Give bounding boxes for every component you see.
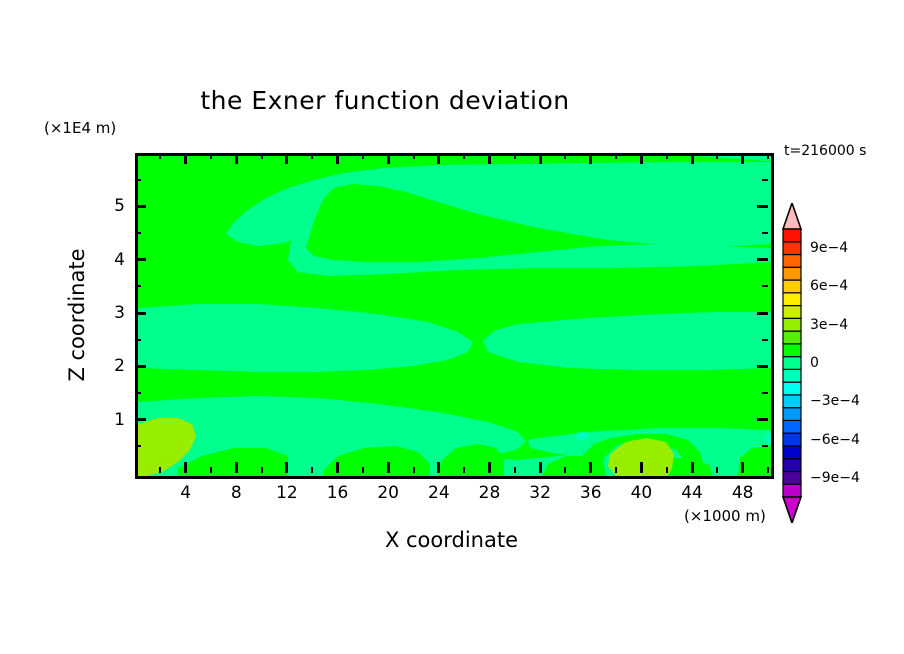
x-tick-minor-top bbox=[767, 153, 769, 159]
x-tick-major-top bbox=[589, 153, 592, 164]
x-tick-minor bbox=[311, 467, 313, 473]
x-tick-major bbox=[488, 462, 491, 473]
y-tick-minor-right bbox=[762, 232, 768, 234]
y-tick-minor bbox=[135, 445, 141, 447]
colorbar-tick-label: 6e−4 bbox=[810, 278, 848, 294]
x-tick-minor-top bbox=[413, 153, 415, 159]
x-tick-label: 40 bbox=[631, 483, 653, 503]
x-tick-minor bbox=[666, 467, 668, 473]
colorbar-band bbox=[783, 369, 801, 382]
y-tick-major-right bbox=[757, 312, 768, 315]
colorbar-band bbox=[783, 242, 801, 255]
x-tick-minor-top bbox=[615, 153, 617, 159]
x-tick-minor bbox=[514, 467, 516, 473]
x-tick-minor-top bbox=[362, 153, 364, 159]
y-tick-major bbox=[135, 418, 146, 421]
x-unit-label: (×1000 m) bbox=[684, 507, 766, 525]
y-tick-major-right bbox=[757, 258, 768, 261]
y-tick-minor-right bbox=[762, 445, 768, 447]
colorbar-band bbox=[783, 306, 801, 319]
x-tick-major bbox=[437, 462, 440, 473]
colorbar-tick-label: −3e−4 bbox=[810, 393, 860, 409]
x-tick-label: 32 bbox=[529, 483, 551, 503]
x-tick-major bbox=[741, 462, 744, 473]
y-tick-major bbox=[135, 258, 146, 261]
colorbar-tick-label: 3e−4 bbox=[810, 317, 848, 333]
x-tick-minor bbox=[413, 467, 415, 473]
x-tick-minor bbox=[210, 467, 212, 473]
colorbar-gradient bbox=[782, 203, 802, 523]
x-tick-minor-top bbox=[261, 153, 263, 159]
plot-area[interactable] bbox=[135, 153, 774, 479]
colorbar-band bbox=[783, 331, 801, 344]
x-tick-major bbox=[285, 462, 288, 473]
x-tick-label: 16 bbox=[327, 483, 349, 503]
colorbar-tick-label: −9e−4 bbox=[810, 470, 860, 486]
chart-title: the Exner function deviation bbox=[0, 86, 770, 115]
x-axis-title: X coordinate bbox=[135, 528, 768, 552]
x-tick-minor bbox=[716, 467, 718, 473]
x-tick-minor-top bbox=[210, 153, 212, 159]
x-tick-minor bbox=[463, 467, 465, 473]
time-annotation: t=216000 s bbox=[784, 143, 866, 159]
y-tick-label: 2 bbox=[89, 356, 125, 376]
colorbar-band bbox=[783, 318, 801, 331]
x-tick-major-top bbox=[336, 153, 339, 164]
y-axis-title: Z coordinate bbox=[65, 215, 89, 415]
x-tick-major bbox=[336, 462, 339, 473]
x-tick-minor bbox=[615, 467, 617, 473]
x-tick-minor bbox=[159, 467, 161, 473]
x-tick-major bbox=[589, 462, 592, 473]
x-tick-minor-top bbox=[463, 153, 465, 159]
y-tick-minor bbox=[135, 339, 141, 341]
x-tick-minor-top bbox=[514, 153, 516, 159]
contour-field bbox=[138, 156, 771, 476]
x-tick-major bbox=[387, 462, 390, 473]
y-tick-minor bbox=[135, 285, 141, 287]
y-tick-major-right bbox=[757, 418, 768, 421]
colorbar-band bbox=[783, 420, 801, 433]
x-tick-label: 36 bbox=[580, 483, 602, 503]
colorbar-band bbox=[783, 433, 801, 446]
y-tick-minor-right bbox=[762, 285, 768, 287]
y-tick-label: 5 bbox=[89, 196, 125, 216]
x-tick-major bbox=[184, 462, 187, 473]
x-tick-major bbox=[691, 462, 694, 473]
colorbar-band bbox=[783, 471, 801, 484]
x-tick-label: 44 bbox=[681, 483, 703, 503]
colorbar-tick-label: −6e−4 bbox=[810, 432, 860, 448]
x-tick-major-top bbox=[741, 153, 744, 164]
colorbar-under-cap bbox=[783, 497, 801, 523]
x-tick-minor bbox=[362, 467, 364, 473]
x-tick-major-top bbox=[235, 153, 238, 164]
x-tick-major-top bbox=[539, 153, 542, 164]
x-tick-label: 28 bbox=[479, 483, 501, 503]
y-tick-minor-right bbox=[762, 392, 768, 394]
colorbar-tick-label: 9e−4 bbox=[810, 240, 848, 256]
y-tick-minor-right bbox=[762, 339, 768, 341]
x-tick-major bbox=[539, 462, 542, 473]
y-tick-major bbox=[135, 365, 146, 368]
x-tick-minor-top bbox=[716, 153, 718, 159]
y-tick-major-right bbox=[757, 205, 768, 208]
x-tick-major-top bbox=[285, 153, 288, 164]
colorbar-band bbox=[783, 395, 801, 408]
colorbar-band bbox=[783, 293, 801, 306]
y-tick-label: 1 bbox=[89, 410, 125, 430]
x-tick-major bbox=[235, 462, 238, 473]
figure-canvas: the Exner function deviation (×1E4 m) t=… bbox=[0, 0, 904, 654]
y-tick-minor bbox=[135, 392, 141, 394]
y-tick-major bbox=[135, 205, 146, 208]
colorbar-band bbox=[783, 267, 801, 280]
colorbar-over-cap bbox=[783, 203, 801, 229]
y-tick-minor bbox=[135, 179, 141, 181]
x-tick-major-top bbox=[691, 153, 694, 164]
x-tick-major-top bbox=[488, 153, 491, 164]
x-tick-major-top bbox=[184, 153, 187, 164]
colorbar-band bbox=[783, 446, 801, 459]
colorbar-band bbox=[783, 255, 801, 268]
colorbar-band bbox=[783, 408, 801, 421]
y-tick-label: 4 bbox=[89, 250, 125, 270]
x-tick-minor-top bbox=[311, 153, 313, 159]
y-unit-label: (×1E4 m) bbox=[44, 119, 116, 137]
colorbar[interactable] bbox=[782, 203, 802, 523]
x-tick-label: 24 bbox=[428, 483, 450, 503]
colorbar-band bbox=[783, 382, 801, 395]
y-tick-minor bbox=[135, 232, 141, 234]
colorbar-band bbox=[783, 280, 801, 293]
x-tick-minor-top bbox=[666, 153, 668, 159]
x-tick-minor bbox=[767, 467, 769, 473]
x-tick-minor-top bbox=[564, 153, 566, 159]
x-tick-label: 12 bbox=[276, 483, 298, 503]
x-tick-major bbox=[640, 462, 643, 473]
y-tick-minor-right bbox=[762, 179, 768, 181]
colorbar-band bbox=[783, 459, 801, 472]
colorbar-band bbox=[783, 229, 801, 242]
colorbar-tick-label: 0 bbox=[810, 355, 819, 371]
colorbar-band bbox=[783, 357, 801, 370]
x-tick-minor-top bbox=[159, 153, 161, 159]
y-tick-major-right bbox=[757, 365, 768, 368]
x-tick-major-top bbox=[437, 153, 440, 164]
colorbar-band bbox=[783, 344, 801, 357]
x-tick-major-top bbox=[640, 153, 643, 164]
x-tick-label: 8 bbox=[231, 483, 242, 503]
x-tick-label: 20 bbox=[377, 483, 399, 503]
y-tick-label: 3 bbox=[89, 303, 125, 323]
x-tick-label: 4 bbox=[180, 483, 191, 503]
x-tick-minor bbox=[261, 467, 263, 473]
x-tick-major-top bbox=[387, 153, 390, 164]
colorbar-band bbox=[783, 484, 801, 497]
x-tick-label: 48 bbox=[732, 483, 754, 503]
y-tick-major bbox=[135, 312, 146, 315]
x-tick-minor bbox=[564, 467, 566, 473]
